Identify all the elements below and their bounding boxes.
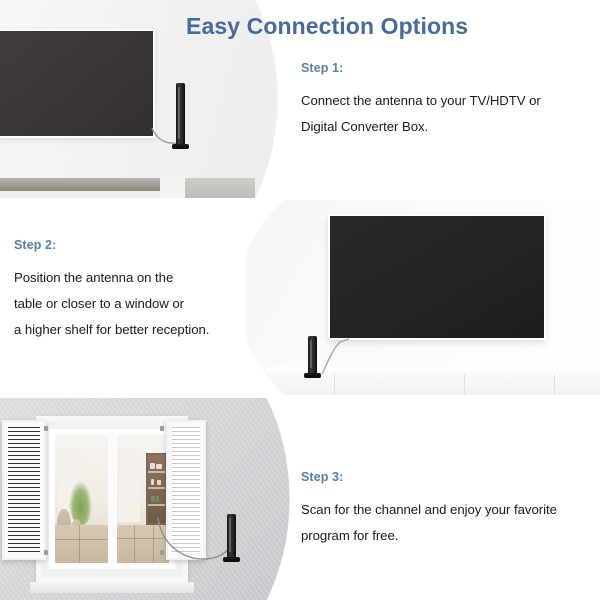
step-1-label: Step 1: bbox=[301, 61, 591, 75]
step-1-block: Step 1: Connect the antenna to your TV/H… bbox=[301, 61, 591, 140]
step-1-body: Connect the antenna to your TV/HDTV or D… bbox=[301, 88, 591, 140]
step3-photo bbox=[0, 398, 292, 600]
antenna-cable-panel2 bbox=[316, 320, 354, 376]
step-2-line-2: table or closer to a window or bbox=[14, 291, 264, 317]
shutter-left bbox=[2, 420, 46, 560]
shelf-panel1 bbox=[0, 178, 168, 191]
step2-photo bbox=[246, 200, 600, 395]
step-2-label: Step 2: bbox=[14, 238, 264, 252]
window-pane-left bbox=[53, 433, 110, 565]
step-3-body: Scan for the channel and enjoy your favo… bbox=[301, 497, 596, 549]
antenna-panel2 bbox=[308, 336, 317, 374]
window-sill bbox=[30, 582, 194, 593]
step-1-line-2: Digital Converter Box. bbox=[301, 114, 591, 140]
page-title: Easy Connection Options bbox=[186, 13, 468, 40]
step-2-block: Step 2: Position the antenna on the tabl… bbox=[14, 238, 264, 343]
window-mullion bbox=[109, 429, 116, 569]
antenna-panel1 bbox=[176, 83, 185, 145]
wall-seam-panel1 bbox=[160, 176, 186, 198]
product-infographic: Easy Connection Options Step 1: Connect … bbox=[0, 0, 600, 600]
antenna-panel3 bbox=[227, 514, 236, 558]
hinge-icon bbox=[44, 426, 48, 431]
step-2-line-3: a higher shelf for better reception. bbox=[14, 317, 264, 343]
step-3-label: Step 3: bbox=[301, 470, 596, 484]
step-3-line-1: Scan for the channel and enjoy your favo… bbox=[301, 497, 596, 523]
step-2-body: Position the antenna on the table or clo… bbox=[14, 265, 264, 343]
concrete-block-panel1 bbox=[185, 178, 255, 198]
television-panel1 bbox=[0, 29, 155, 138]
step-3-block: Step 3: Scan for the channel and enjoy y… bbox=[301, 470, 596, 549]
hinge-icon bbox=[160, 426, 164, 431]
step-3-line-2: program for free. bbox=[301, 523, 596, 549]
hinge-icon bbox=[44, 550, 48, 555]
television-panel2 bbox=[328, 214, 546, 340]
shelf-shadow-panel1 bbox=[0, 191, 162, 198]
step-1-line-1: Connect the antenna to your TV/HDTV or bbox=[301, 88, 591, 114]
step-2-line-1: Position the antenna on the bbox=[14, 265, 264, 291]
kitchen-shelf-unit bbox=[146, 453, 167, 525]
